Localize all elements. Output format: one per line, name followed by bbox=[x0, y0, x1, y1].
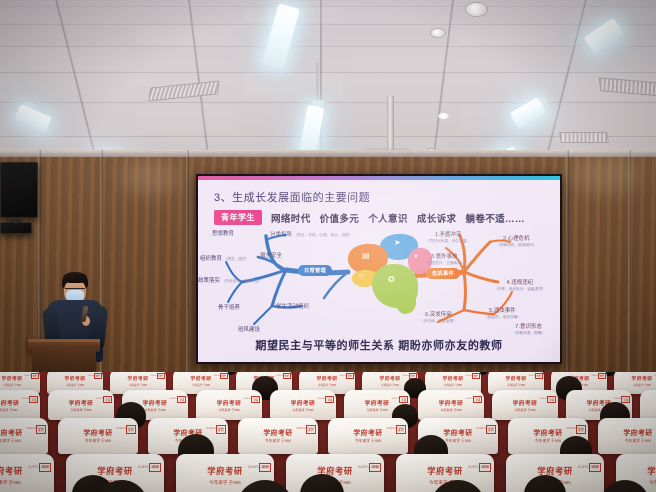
ceiling-tile bbox=[352, 48, 450, 70]
mindmap-node-left-7: 班风建设 bbox=[238, 325, 260, 333]
node-label: 意识形态 bbox=[520, 324, 542, 330]
seat-slogan-label: 今年来学 于985 bbox=[428, 383, 477, 387]
projection-screen-frame: 3、生成长发展面临的主要问题 青年学生 网络时代 价值多元 个人意识 成长诉求 … bbox=[196, 174, 562, 364]
seat-slogan-label: 今年来学 于985 bbox=[0, 480, 48, 486]
ceiling-tile bbox=[136, 104, 234, 134]
seat-slogan-label: 今年来学 于985 bbox=[617, 383, 656, 387]
seat-stamp-icon: 考研 bbox=[103, 396, 112, 403]
seat-cover[interactable]: 学府考研XUEFU.COM考研今年来学 于985 bbox=[418, 390, 484, 420]
seat-brand-label: 学府考研 bbox=[645, 398, 656, 407]
mindmap-node-left-1: 宿舍安全 bbox=[260, 251, 282, 259]
ceiling-tile bbox=[136, 26, 234, 44]
seat-stamp-icon: 考研 bbox=[472, 373, 480, 379]
seat-cover[interactable]: 学府考研XUEFU.COM考研今年来学 于985 bbox=[0, 454, 54, 492]
mindmap-diagram: ▤ ➤ ▭ ✪ ♥ 日常管理 危机事件 分类指导 （学业、学风、心理、就业、资助… bbox=[198, 228, 560, 338]
seat-slogan-label: 今年来学 于985 bbox=[243, 439, 313, 444]
seat-brand-label: 学府考研 bbox=[624, 465, 656, 477]
ceiling-grid-line bbox=[0, 6, 656, 7]
seat-slogan-label: 今年来学 于985 bbox=[422, 407, 480, 412]
seat-stamp-icon: 考研 bbox=[473, 396, 482, 403]
seat-stamp-icon: 考研 bbox=[576, 425, 586, 433]
ribbon-daily-management: 日常管理 bbox=[298, 265, 332, 276]
wall-panel-seam bbox=[566, 150, 569, 400]
seat-stamp-icon: 考研 bbox=[259, 463, 271, 472]
seat-stamp-icon: 考研 bbox=[598, 373, 606, 379]
brain-illustration: ▤ ➤ ▭ ✪ ♥ bbox=[346, 234, 432, 316]
mindmap-node-left-6: 学生活动组织 bbox=[276, 302, 309, 310]
seat-slogan-label: 今年来学 于985 bbox=[50, 383, 99, 387]
seat-stamp-icon: 考研 bbox=[283, 373, 291, 379]
brain-lobe-green-tail bbox=[396, 292, 416, 314]
node-sub: （流行病、突发疫情） bbox=[420, 319, 457, 323]
wall-speaker bbox=[0, 222, 32, 234]
seat-stamp-icon: 考研 bbox=[479, 463, 491, 472]
seat-stamp-icon: 考研 bbox=[177, 396, 186, 403]
seat-cover[interactable]: 学府考研XUEFU.COM考研今年来学 于985 bbox=[238, 418, 318, 454]
seat-cover[interactable]: 学府考研XUEFU.COM考研今年来学 于985 bbox=[328, 418, 408, 454]
node-sub: （校园意外、交通事故） bbox=[424, 261, 465, 265]
mindmap-node-right-0: 1.矛盾冲突 （同学间矛盾、师生矛盾） bbox=[426, 230, 470, 244]
keyword-badge: 青年学生 bbox=[214, 210, 262, 225]
seat-stamp-icon: 考研 bbox=[325, 396, 334, 403]
ceiling-tile bbox=[28, 48, 126, 70]
node-sub: （同学间矛盾、师生矛盾） bbox=[426, 239, 470, 243]
seat-stamp-icon: 考研 bbox=[621, 396, 630, 403]
mindmap-node-left-0: 分类指导 （学业、学风、心理、就业、资助） bbox=[270, 230, 353, 238]
seat-stamp-icon: 考研 bbox=[149, 463, 161, 472]
seat-cover[interactable]: 学府考研XUEFU.COM考研今年来学 于985 bbox=[0, 418, 48, 454]
seat-cover[interactable]: 学府考研XUEFU.COM考研今年来学 于985 bbox=[270, 390, 336, 420]
downlight-icon bbox=[438, 113, 449, 119]
air-vent bbox=[559, 132, 609, 143]
ceiling-tile bbox=[0, 74, 18, 100]
wall-panel-seam bbox=[100, 150, 103, 400]
keyword-4: 躺卷不适…… bbox=[465, 211, 524, 225]
seat-slogan-label: 今年来学 于985 bbox=[496, 407, 554, 412]
seat-cover[interactable]: 学府考研XUEFU.COM考研今年来学 于985 bbox=[598, 418, 656, 454]
seat-slogan-label: 今年来学 于985 bbox=[63, 439, 133, 444]
node-sub: （党员、团员） bbox=[224, 257, 250, 261]
seat-slogan-label: 今年来学 于985 bbox=[644, 407, 656, 412]
audience-seating: 学府考研XUEFU.COM考研今年来学 于985学府考研XUEFU.COM考研今… bbox=[0, 372, 656, 492]
node-label: 组织教育 bbox=[200, 256, 222, 262]
seat-stamp-icon: 考研 bbox=[39, 463, 51, 472]
seat-stamp-icon: 考研 bbox=[306, 425, 316, 433]
seat-slogan-label: 今年来学 于985 bbox=[52, 407, 110, 412]
node-sub: （宗教渗透、舆情） bbox=[512, 331, 545, 335]
seat-slogan-label: 今年来学 于985 bbox=[603, 439, 656, 444]
ceiling-grid-line bbox=[0, 24, 656, 25]
seat-brand-label: 学府考研 bbox=[618, 375, 656, 382]
seat-cover[interactable]: 学府考研XUEFU.COM考研今年来学 于985 bbox=[196, 390, 262, 420]
mindmap-node-left-2: 思想教育 bbox=[212, 229, 234, 237]
seat-cover[interactable]: 学府考研XUEFU.COM考研今年来学 于985 bbox=[58, 418, 138, 454]
seat-slogan-label: 今年来学 于985 bbox=[302, 383, 351, 387]
seat-cover[interactable]: 学府考研XUEFU.COM考研今年来学 于985 bbox=[0, 390, 40, 420]
node-label: 违法事件 bbox=[494, 308, 516, 314]
seat-stamp-icon: 考研 bbox=[396, 425, 406, 433]
seat-stamp-icon: 考研 bbox=[535, 373, 543, 379]
node-sub: （评优评先、奖助学金） bbox=[222, 279, 263, 283]
seat-brand-label: 学府考研 bbox=[604, 427, 656, 437]
seat-stamp-icon: 考研 bbox=[399, 396, 408, 403]
mindmap-node-left-3: 组织教育 （党员、团员） bbox=[200, 254, 249, 262]
node-sub: （作弊、违纪处分、留级退学） bbox=[494, 287, 546, 291]
heart-icon: ♥ bbox=[414, 254, 418, 260]
seat-stamp-icon: 考研 bbox=[157, 373, 165, 379]
seat-cover[interactable]: 学府考研XUEFU.COM考研今年来学 于985 bbox=[492, 390, 558, 420]
node-label: 矛盾冲突 bbox=[440, 232, 462, 238]
mindmap-node-right-3: 4.违规违纪 （作弊、违纪处分、留级退学） bbox=[494, 278, 546, 292]
seat-slogan-label: 今年来学 于985 bbox=[0, 407, 36, 412]
ceiling-tile bbox=[460, 26, 558, 44]
seat-stamp-icon: 考研 bbox=[486, 425, 496, 433]
keyword-2: 个人意识 bbox=[368, 211, 408, 225]
smoke-detector-icon bbox=[465, 2, 488, 17]
mindmap-node-left-5: 骨干培养 bbox=[218, 303, 240, 311]
slide-caption: 期望民主与平等的师生关系 期盼亦师亦友的教师 bbox=[198, 337, 560, 353]
ceiling-grid-line bbox=[0, 46, 656, 47]
briefcase-icon: ▤ bbox=[362, 252, 370, 260]
seat-stamp-icon: 考研 bbox=[346, 373, 354, 379]
seat-slogan-label: 今年来学 于985 bbox=[0, 439, 43, 444]
seat-stamp-icon: 考研 bbox=[36, 425, 46, 433]
node-label: 学生活动组织 bbox=[276, 304, 309, 310]
slide-title: 3、生成长发展面临的主要问题 bbox=[214, 189, 370, 205]
projection-screen: 3、生成长发展面临的主要问题 青年学生 网络时代 价值多元 个人意识 成长诉求 … bbox=[198, 176, 560, 362]
mindmap-node-right-4: 5.违法事件 （校园贷、电信诈骗） bbox=[484, 306, 521, 320]
slide-top-accent-bar bbox=[198, 176, 560, 180]
seat-stamp-icon: 考研 bbox=[589, 463, 601, 472]
seat-slogan-label: 今年来学 于985 bbox=[176, 383, 225, 387]
wall-trim bbox=[0, 150, 656, 157]
node-sub: （抑郁倾向、极端倾向） bbox=[496, 243, 537, 247]
mindmap-node-right-1: 2.心理危机 （抑郁倾向、极端倾向） bbox=[496, 234, 537, 248]
ceiling-tile bbox=[0, 8, 18, 22]
lifebuoy-icon: ✪ bbox=[388, 276, 395, 284]
seat-stamp-icon: 考研 bbox=[31, 373, 39, 379]
seat-cover[interactable]: 学府考研XUEFU.COM考研今年来学 于985 bbox=[640, 390, 656, 420]
wall-highlight bbox=[572, 154, 642, 194]
ceiling-tile bbox=[244, 74, 342, 100]
seat-slogan-label: 今年来学 于985 bbox=[200, 407, 258, 412]
keyword-0: 网络时代 bbox=[271, 211, 311, 225]
seat-stamp-icon: 考研 bbox=[251, 396, 260, 403]
node-label: 心理危机 bbox=[508, 236, 530, 242]
presenter-hair-top bbox=[63, 272, 87, 283]
mindmap-node-right-2: 3.意外事故 （校园意外、交通事故） bbox=[424, 252, 465, 266]
seat-slogan-label: 今年来学 于985 bbox=[113, 383, 162, 387]
node-label: 思想教育 bbox=[212, 231, 234, 237]
seat-stamp-icon: 考研 bbox=[369, 463, 381, 472]
mindmap-node-right-5: 6.突发传染 （流行病、突发疫情） bbox=[420, 310, 457, 324]
seat-stamp-icon: 考研 bbox=[126, 425, 136, 433]
seat-slogan-label: 今年来学 于985 bbox=[274, 407, 332, 412]
seat-slogan-label: 今年来学 于985 bbox=[333, 439, 403, 444]
seat-stamp-icon: 考研 bbox=[29, 396, 38, 403]
node-label: 宿舍安全 bbox=[260, 253, 282, 259]
seat-stamp-icon: 考研 bbox=[94, 373, 102, 379]
node-label: 班风建设 bbox=[238, 327, 260, 333]
wall-highlight bbox=[120, 160, 180, 194]
mindmap-node-right-6: 7.意识形态 （宗教渗透、舆情） bbox=[512, 322, 545, 336]
projector-mount-pole bbox=[387, 96, 394, 152]
keyword-1: 价值多元 bbox=[320, 211, 360, 225]
ribbon-crisis-events: 危机事件 bbox=[426, 268, 460, 279]
node-label: 分类指导 bbox=[270, 232, 292, 238]
seat-cover[interactable]: 学府考研XUEFU.COM考研今年来学 于985 bbox=[48, 390, 114, 420]
wall-panel-seam bbox=[186, 150, 189, 400]
seat-slogan-label: 今年来学 于985 bbox=[0, 383, 37, 387]
mindmap-node-left-4: 政策落实 （评优评先、奖助学金） bbox=[198, 276, 262, 284]
book-icon: ▭ bbox=[359, 273, 365, 279]
node-label: 违规违纪 bbox=[511, 280, 533, 286]
node-label: 意外事故 bbox=[436, 254, 458, 260]
smoke-detector-icon bbox=[430, 28, 446, 38]
seat-stamp-icon: 考研 bbox=[547, 396, 556, 403]
paper-plane-icon: ➤ bbox=[394, 239, 401, 247]
seat-stamp-icon: 考研 bbox=[216, 425, 226, 433]
node-label: 政策落实 bbox=[198, 278, 220, 284]
node-sub: （学业、学风、心理、就业、资助） bbox=[294, 233, 353, 237]
wall-speaker bbox=[0, 162, 38, 218]
node-sub: （校园贷、电信诈骗） bbox=[484, 315, 521, 319]
lecture-hall-photo: 3、生成长发展面临的主要问题 青年学生 网络时代 价值多元 个人意识 成长诉求 … bbox=[0, 0, 656, 492]
slide-keyword-row: 青年学生 网络时代 价值多元 个人意识 成长诉求 躺卷不适…… bbox=[214, 210, 525, 225]
keyword-3: 成长诉求 bbox=[417, 211, 457, 225]
seat-slogan-label: 今年来学 于985 bbox=[491, 383, 540, 387]
node-label: 突发传染 bbox=[430, 312, 452, 318]
seat-stamp-icon: 考研 bbox=[220, 373, 228, 379]
node-label: 骨干培养 bbox=[218, 305, 240, 311]
